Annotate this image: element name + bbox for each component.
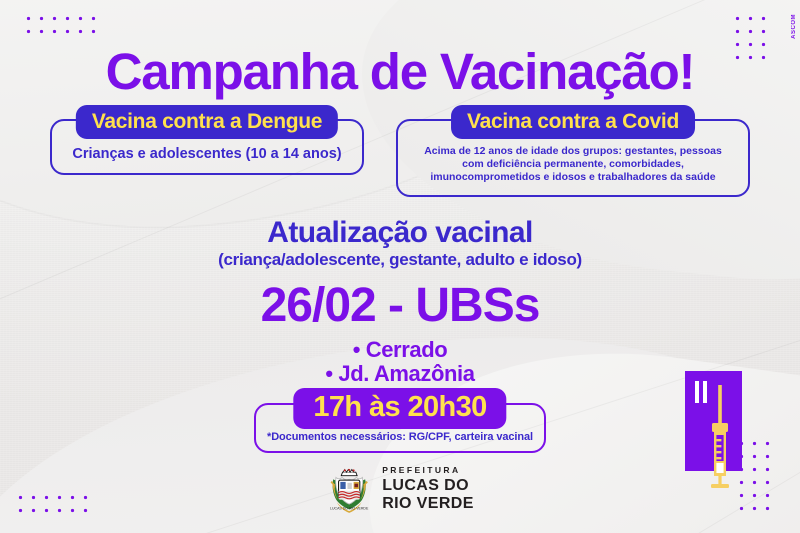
- dengue-pill-label: Vacina contra a Dengue: [76, 105, 338, 139]
- municipality-wordmark: PREFEITURA LUCAS DO RIO VERDE: [382, 466, 474, 512]
- covid-pill-label: Vacina contra a Covid: [451, 105, 695, 139]
- svg-text:LUCAS DO RIO VERDE: LUCAS DO RIO VERDE: [330, 506, 369, 510]
- documents-note: *Documentos necessários: RG/CPF, carteir…: [266, 431, 534, 443]
- vaccine-cards: Vacina contra a Dengue Crianças e adoles…: [50, 119, 750, 197]
- page-title: Campanha de Vacinação!: [106, 46, 695, 97]
- covid-card-body: Acima de 12 anos de idade dos grupos: ge…: [410, 143, 736, 184]
- dengue-card-body: Crianças e adolescentes (10 a 14 anos): [64, 143, 350, 163]
- syringe-illustration: [685, 371, 742, 471]
- city-name-line-1: LUCAS DO: [382, 477, 474, 494]
- list-item: • Jd. Amazônia: [325, 362, 474, 387]
- dengue-card: Vacina contra a Dengue Crianças e adoles…: [50, 119, 364, 175]
- syringe-icon: [694, 379, 734, 491]
- update-subtitle: (criança/adolescente, gestante, adulto e…: [218, 250, 582, 270]
- footer-logo: LUCAS DO RIO VERDE PREFEITURA LUCAS DO R…: [326, 465, 474, 513]
- prefecture-label: PREFEITURA: [382, 466, 474, 475]
- location-list: • Cerrado • Jd. Amazônia: [325, 338, 474, 387]
- city-name-line-2: RIO VERDE: [382, 495, 474, 512]
- date-line: 26/02 - UBSs: [261, 282, 540, 330]
- time-pill-label: 17h às 20h30: [293, 388, 506, 429]
- update-title: Atualização vacinal: [267, 217, 532, 249]
- vaccination-campaign-poster: ASCOM Campanha de Vacinação! Vacina cont…: [0, 0, 800, 533]
- list-item: • Cerrado: [325, 338, 474, 363]
- poster-content: Campanha de Vacinação! Vacina contra a D…: [0, 0, 800, 533]
- time-card: 17h às 20h30 *Documentos necessários: RG…: [254, 403, 546, 453]
- coat-of-arms-icon: LUCAS DO RIO VERDE: [326, 465, 372, 513]
- covid-card: Vacina contra a Covid Acima de 12 anos d…: [396, 119, 750, 197]
